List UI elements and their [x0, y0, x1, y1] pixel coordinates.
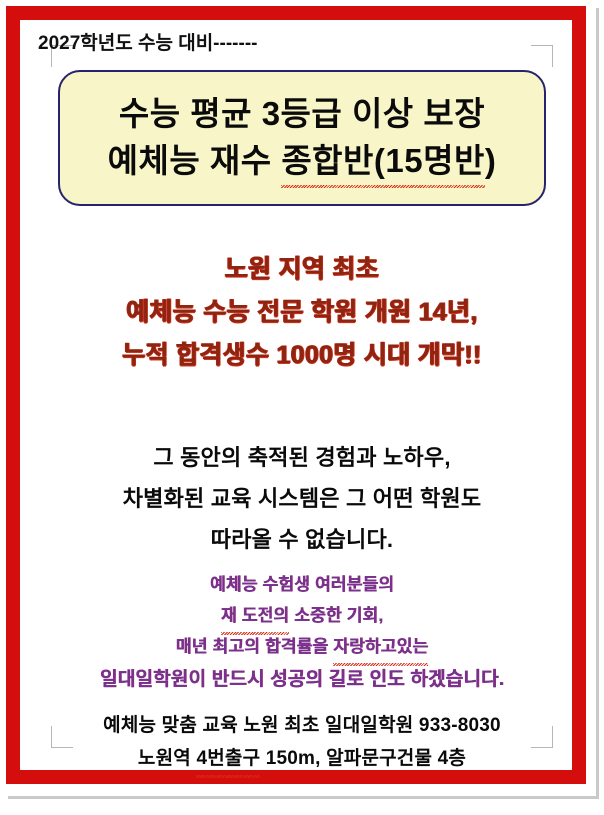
footer-address-exit-spellcheck: 4번출구 [196, 743, 260, 776]
statement-line-2: 차별화된 교육 시스템은 그 어떤 학원도 [20, 479, 584, 520]
statement-text-block: 그 동안의 축적된 경험과 노하우, 차별화된 교육 시스템은 그 어떤 학원도… [20, 438, 584, 561]
statement-line-1: 그 동안의 축적된 경험과 노하우, [20, 438, 584, 479]
exam-year-header: 2027학년도 수능 대비------- [38, 28, 257, 55]
headline-line-1: 수능 평균 3등급 이상 보장 [119, 91, 485, 138]
footer-address-prefix: 노원역 [138, 748, 197, 769]
appeal-line-3: 매년 최고의 합격률을 자랑하고있는 [20, 632, 584, 663]
headline-box: 수능 평균 3등급 이상 보장 예체능 재수 종합반(15명반) [58, 70, 546, 206]
headline-line-2-prefix: 예체능 재수 [108, 142, 282, 179]
highlight-line-3: 누적 합격생수 1000명 시대 개막!! [20, 334, 584, 377]
headline-line-2-suffix: ) [485, 142, 497, 179]
footer-address-suffix: 150m, 알파문구건물 4층 [260, 748, 466, 769]
appeal-line-3-prefix: 매년 최고의 합격률을 [176, 637, 333, 656]
headline-line-2-spellcheck: 종합반(15명반 [281, 138, 485, 185]
footer-phone-number: 933-8030 [419, 715, 501, 736]
poster-page: 2027학년도 수능 대비------- 수능 평균 3등급 이상 보장 예체능… [0, 0, 604, 815]
highlight-text-block: 노원 지역 최초 예체능 수능 전문 학원 개원 14년, 누적 합격생수 10… [20, 248, 584, 377]
poster-content: 2027학년도 수능 대비------- 수능 평균 3등급 이상 보장 예체능… [20, 20, 584, 770]
appeal-line-2-suffix: 소중한 기회, [289, 606, 383, 625]
statement-line-3: 따라올 수 없습니다. [20, 520, 584, 561]
footer-line-address: 노원역 4번출구 150m, 알파문구건물 4층 [20, 743, 584, 776]
appeal-text-block: 예체능 수험생 여러분들의 재 도전의 소중한 기회, 매년 최고의 합격률을 … [20, 570, 584, 697]
appeal-line-4: 일대일학원이 반드시 성공의 길로 인도 하겠습니다. [20, 663, 584, 698]
page-shadow-right [596, 8, 599, 798]
appeal-line-2-spellcheck: 재 도전의 [221, 601, 289, 632]
page-shadow-bottom [8, 796, 599, 799]
footer-line-academy: 예체능 맞춤 교육 노원 최초 일대일학원 933-8030 [20, 710, 584, 743]
contact-footer-block: 예체능 맞춤 교육 노원 최초 일대일학원 933-8030 노원역 4번출구 … [20, 710, 584, 775]
highlight-line-2: 예체능 수능 전문 학원 개원 14년, [20, 291, 584, 334]
appeal-line-2: 재 도전의 소중한 기회, [20, 601, 584, 632]
appeal-line-1: 예체능 수험생 여러분들의 [20, 570, 584, 601]
footer-academy-label: 예체능 맞춤 교육 노원 최초 일대일학원 [103, 715, 419, 736]
appeal-line-3-spellcheck: 자랑하고있는 [333, 632, 428, 663]
headline-line-2: 예체능 재수 종합반(15명반) [108, 138, 497, 185]
highlight-line-1: 노원 지역 최초 [20, 248, 584, 291]
